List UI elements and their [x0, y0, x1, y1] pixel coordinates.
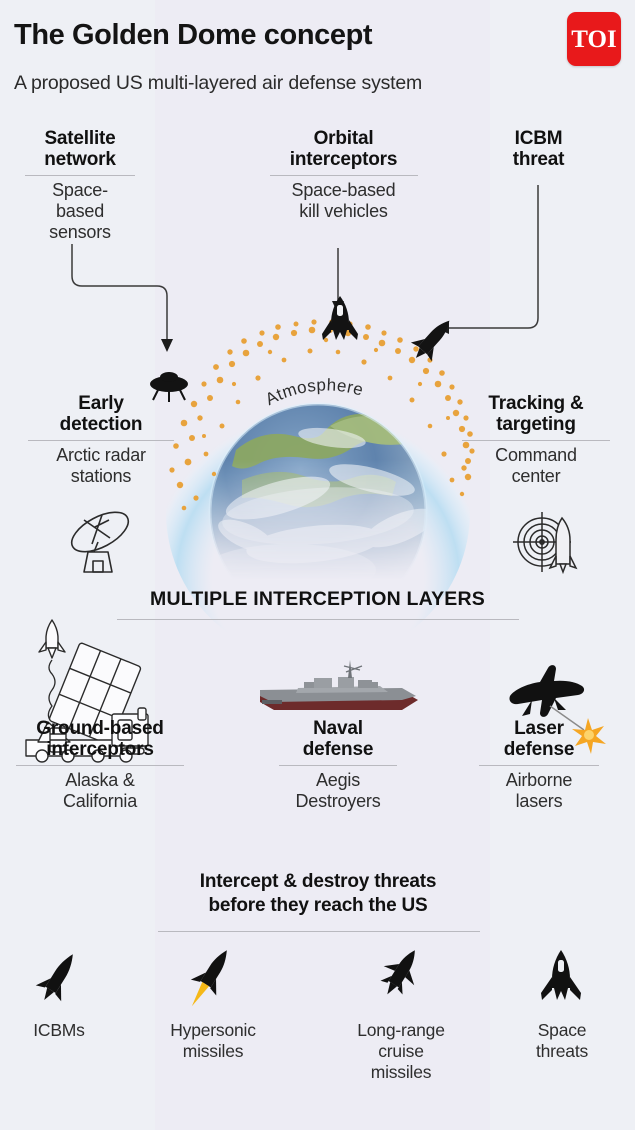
naval-defense-subtitle: AegisDestroyers [255, 770, 421, 812]
interception-heading-rule [117, 619, 519, 620]
label-ground-based-interceptors: Ground-basedinterceptors Alaska &Califor… [14, 718, 186, 812]
label-satellite-network: Satellitenetwork Space-basedsensors [14, 128, 146, 243]
interception-heading: MULTIPLE INTERCEPTION LAYERS [85, 588, 550, 611]
threat-hypersonic-label: Hypersonicmissiles [140, 1020, 286, 1062]
hypersonic-missile-icon [186, 946, 238, 1016]
orbital-interceptors-subtitle: Space-basedkill vehicles [255, 180, 432, 222]
satellite-network-subtitle: Space-basedsensors [14, 180, 146, 243]
label-orbital-interceptors: Orbitalinterceptors Space-basedkill vehi… [255, 128, 432, 222]
orbital-interceptors-title: Orbitalinterceptors [255, 128, 432, 171]
early-detection-title: Earlydetection [26, 393, 176, 436]
outcome-heading-rule [158, 931, 480, 932]
exhaust-flame [188, 982, 209, 1008]
tracking-targeting-title: Tracking &targeting [460, 393, 612, 436]
threat-cruise: Long-rangecruisemissiles [328, 1020, 474, 1083]
icbm-missile-icon [34, 950, 82, 1006]
cruise-missile-icon [374, 946, 426, 1004]
outcome-heading: Intercept & destroy threatsbefore they r… [100, 870, 536, 917]
satellite-network-title: Satellitenetwork [14, 128, 146, 171]
icbm-threat-title: ICBMthreat [473, 128, 604, 171]
threat-hypersonic: Hypersonicmissiles [140, 1020, 286, 1062]
page-title: The Golden Dome concept [14, 19, 372, 52]
label-icbm-threat: ICBMthreat [473, 128, 604, 171]
page-subtitle: A proposed US multi-layered air defense … [14, 72, 422, 95]
toi-logo: TOI [567, 12, 621, 66]
label-naval-defense: Navaldefense AegisDestroyers [255, 718, 421, 812]
label-early-detection: Earlydetection Arctic radarstations [26, 393, 176, 487]
missile-icon [404, 318, 460, 362]
space-threat-icon [538, 950, 584, 1002]
threat-space-label: Spacethreats [500, 1020, 624, 1062]
threat-space: Spacethreats [500, 1020, 624, 1062]
infographic-root: The Golden Dome concept A proposed US mu… [0, 0, 635, 1130]
laser-defense-title: Laserdefense [458, 718, 620, 761]
label-laser-defense: Laserdefense Airbornelasers [458, 718, 620, 812]
tracking-targeting-subtitle: Commandcenter [460, 445, 612, 487]
threat-icbms: ICBMs [0, 1020, 118, 1041]
rocket-icon [320, 296, 360, 342]
early-detection-subtitle: Arctic radarstations [26, 445, 176, 487]
header: The Golden Dome concept A proposed US mu… [0, 0, 635, 108]
naval-defense-title: Navaldefense [255, 718, 421, 761]
radar-dish-icon [62, 508, 140, 574]
destroyer-ship-icon [252, 656, 422, 718]
threat-cruise-label: Long-rangecruisemissiles [328, 1020, 474, 1083]
label-tracking-targeting: Tracking &targeting Commandcenter [460, 393, 612, 487]
ground-interceptors-subtitle: Alaska &California [14, 770, 186, 812]
laser-defense-subtitle: Airbornelasers [458, 770, 620, 812]
threat-icbms-label: ICBMs [0, 1020, 118, 1041]
targeting-reticle-icon [514, 508, 582, 574]
toi-logo-text: TOI [571, 27, 616, 52]
ground-interceptors-title: Ground-basedinterceptors [14, 718, 186, 761]
